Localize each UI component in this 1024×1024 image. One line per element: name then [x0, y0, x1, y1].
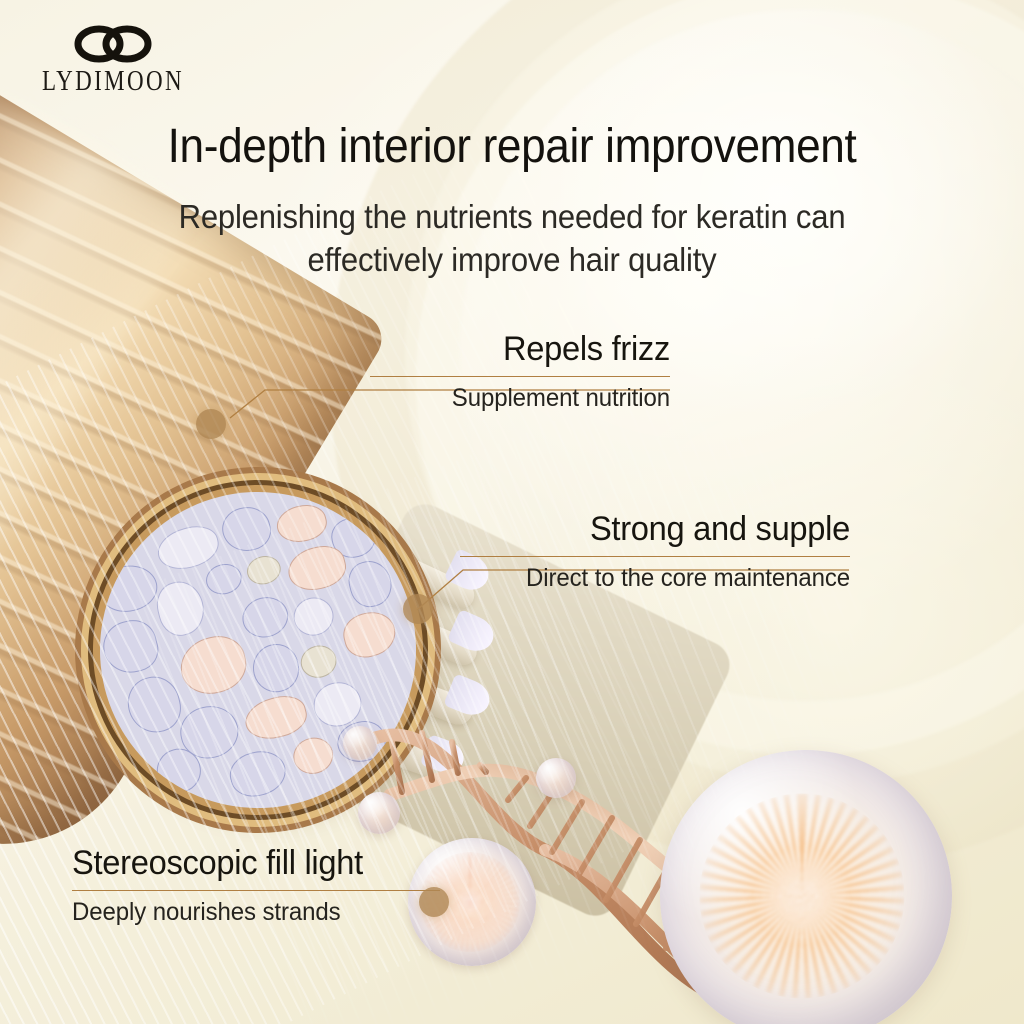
callout-title: Stereoscopic fill light — [72, 846, 425, 880]
callout-subtitle: Direct to the core maintenance — [476, 566, 850, 591]
brand-name: LYDIMOON — [18, 67, 208, 95]
page-subtitle-line2: effectively improve hair quality — [31, 239, 994, 282]
cortex-fiber — [300, 708, 450, 781]
two-interlocking-rings-icon — [70, 22, 156, 66]
cortex-fiber — [312, 643, 476, 728]
pearl-bead-icon — [343, 726, 377, 760]
brand-logo[interactable]: LYDIMOON — [18, 22, 208, 90]
cortex-fiber-tip — [443, 673, 495, 720]
product-feature-poster: ✦ ✦ ✦ ✦ — [0, 0, 1024, 1024]
callout-title: Repels frizz — [382, 332, 670, 366]
node-dot-strong-and-supple — [403, 594, 433, 624]
callout-stereoscopic-fill-light: Stereoscopic fill light Deeply nourishes… — [72, 846, 440, 925]
cortex-fiber — [323, 582, 481, 669]
page-title: In-depth interior repair improvement — [41, 122, 983, 173]
callout-title: Strong and supple — [476, 512, 850, 546]
callout-subtitle: Supplement nutrition — [382, 386, 670, 411]
callout-subtitle: Deeply nourishes strands — [72, 900, 425, 925]
callout-repels-frizz: Repels frizz Supplement nutrition — [370, 332, 670, 411]
callout-strong-and-supple: Strong and supple Direct to the core mai… — [460, 512, 850, 591]
node-dot-repels-frizz — [196, 409, 226, 439]
cortex-fiber-tip — [420, 734, 469, 778]
page-subtitle: Replenishing the nutrients needed for ke… — [31, 196, 994, 282]
page-subtitle-line1: Replenishing the nutrients needed for ke… — [31, 196, 994, 239]
starburst-glow — [699, 794, 904, 999]
pearl-bead-icon — [536, 758, 576, 798]
callout-rule — [370, 376, 670, 377]
pearl-sphere-icon — [660, 750, 952, 1024]
right-glow — [524, 330, 1024, 890]
hair-cross-section-icon — [66, 458, 449, 841]
cortex-fiber-tip — [447, 609, 499, 657]
pearl-bead-icon — [358, 792, 400, 834]
callout-rule — [72, 890, 440, 891]
node-dot-stereoscopic-fill-light — [419, 887, 449, 917]
callout-rule — [460, 556, 850, 557]
